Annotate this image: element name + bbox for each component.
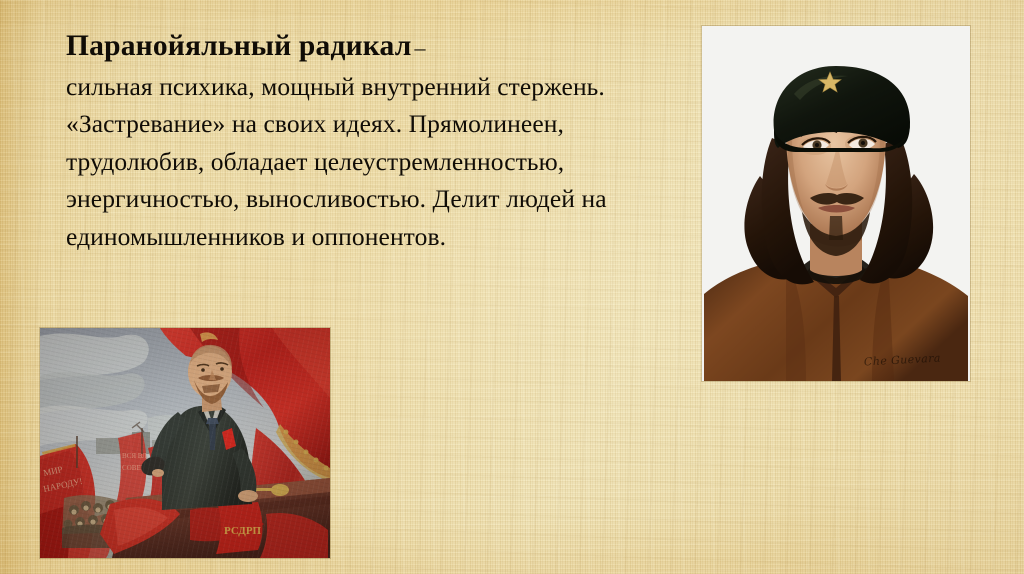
page-title: Паранойяльный радикал: [66, 30, 412, 62]
slide-text-block: Паранойяльный радикал– сильная психика, …: [66, 28, 626, 255]
presentation-slide: Паранойяльный радикал– сильная психика, …: [0, 0, 1024, 574]
lenin-hand-left: [152, 469, 164, 477]
lenin-painting: МИР НАРОДУ! ВСЯ ВЛАСТЬ СОВЕТАМ: [40, 328, 330, 558]
che-guevara-illustration: [702, 26, 970, 381]
che-guevara-photo: Che Guevara: [702, 26, 970, 381]
lenin-hand-right: [238, 490, 258, 502]
heading-dash: –: [412, 35, 426, 60]
lenin-painting-illustration: МИР НАРОДУ! ВСЯ ВЛАСТЬ СОВЕТАМ: [40, 328, 330, 558]
slide-heading-line: Паранойяльный радикал–: [66, 28, 626, 67]
slide-body-text: сильная психика, мощный внутренний стерж…: [66, 68, 626, 256]
svg-text:РСДРП: РСДРП: [224, 525, 262, 537]
